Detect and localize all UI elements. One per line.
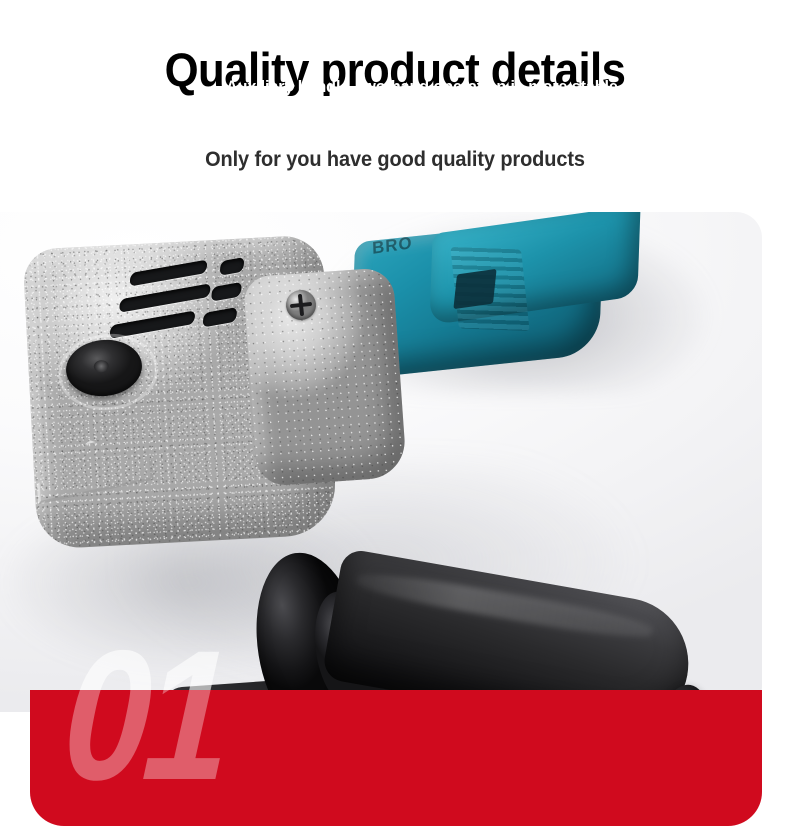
feature-banner [30, 690, 762, 826]
feature-banner-text: Auxiliary handle Auxiliary handle, two-h… [226, 0, 732, 136]
feature-title: Auxiliary handle [226, 27, 392, 54]
feature-number: 01 [59, 624, 229, 690]
feature-description: Auxiliary handle, two-hand operation is … [226, 76, 644, 121]
product-detail-page: Quality product details Only for you hav… [0, 0, 790, 838]
